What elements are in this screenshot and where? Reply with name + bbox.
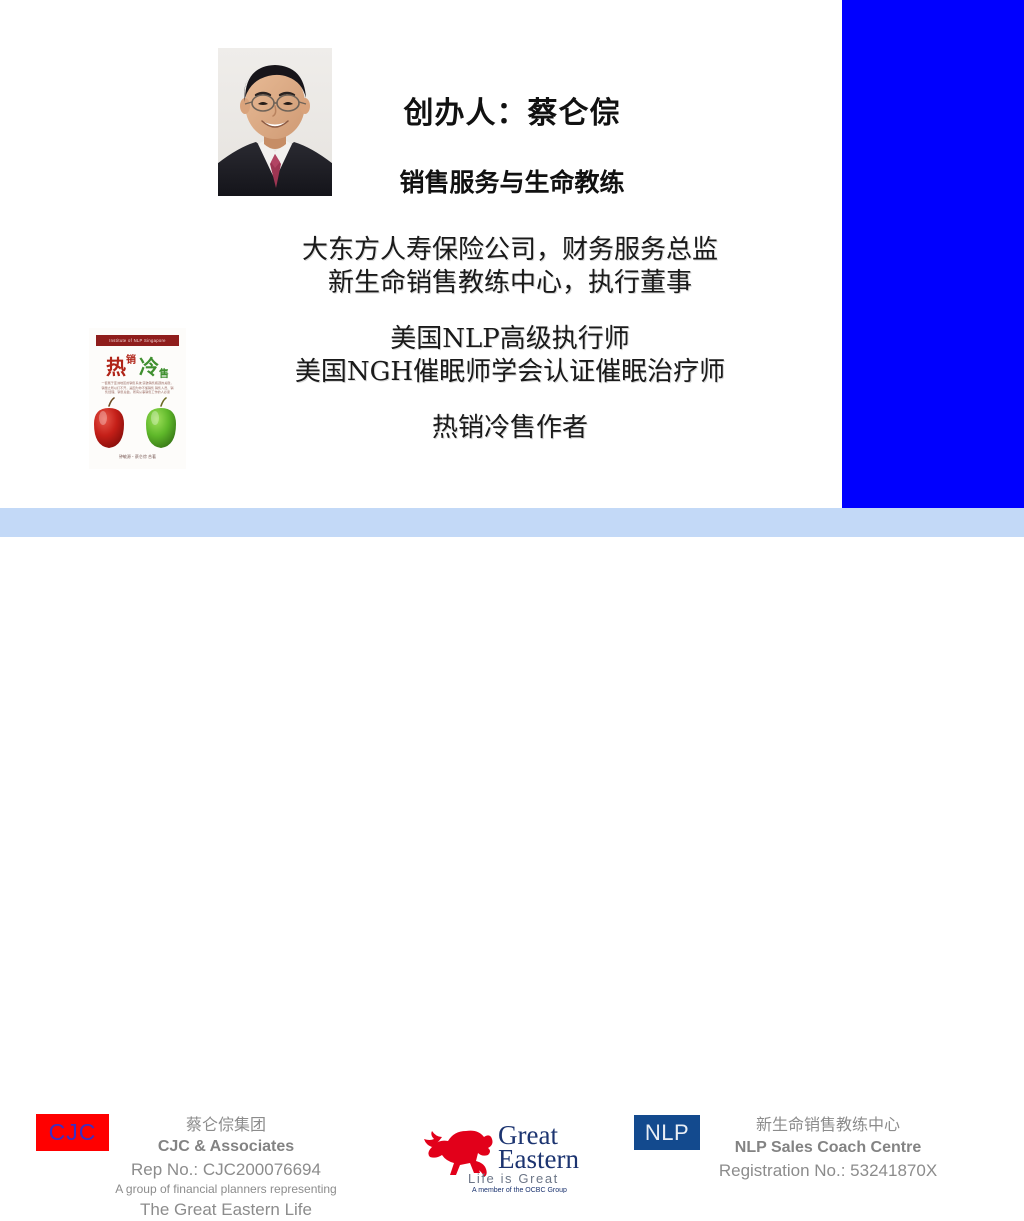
book-cover-image: Institute of NLP Singapore 热销冷售 一套属于亚洲地区… bbox=[89, 328, 186, 469]
book-apples-illustration bbox=[89, 396, 186, 456]
footer-partners-strip: CJC 蔡仑倧集团 CJC & Associates Rep No.: CJC2… bbox=[0, 545, 1024, 705]
credential-line-3: 美国NLP高级执行师 bbox=[190, 323, 830, 356]
book-authors: 钟敏源・蔡仑倧 合著 bbox=[89, 454, 186, 460]
svg-text:Eastern: Eastern bbox=[498, 1144, 579, 1174]
nlp-registration-no: Registration No.: 53241870X bbox=[678, 1159, 978, 1182]
nlp-name-cn: 新生命销售教练中心 bbox=[678, 1115, 978, 1137]
book-title-char-sell: 销 bbox=[126, 355, 136, 366]
book-title-char-cold: 冷 bbox=[139, 355, 159, 379]
founder-portrait-photo bbox=[218, 48, 332, 196]
svg-text:A member of the OCBC Group: A member of the OCBC Group bbox=[472, 1187, 567, 1193]
credential-line-5: 热销冷售作者 bbox=[190, 412, 830, 445]
nlp-name-en: NLP Sales Coach Centre bbox=[678, 1137, 978, 1159]
slide-title: 创办人：蔡仑倧 bbox=[352, 88, 672, 132]
book-banner-text: Institute of NLP Singapore bbox=[96, 335, 179, 346]
nlp-info-block: 新生命销售教练中心 NLP Sales Coach Centre Registr… bbox=[678, 1115, 978, 1182]
presentation-slide: 创办人：蔡仑倧 销售服务与生命教练 大东方人寿保险公司，财务服务总监 新生命销售… bbox=[0, 0, 1024, 768]
slide-subtitle: 销售服务与生命教练 bbox=[352, 163, 672, 199]
cjc-affiliation: The Great Eastern Life bbox=[88, 1198, 364, 1221]
blue-accent-panel bbox=[842, 0, 1024, 508]
cjc-descriptor: A group of financial planners representi… bbox=[88, 1181, 364, 1198]
credentials-block: 大东方人寿保险公司，财务服务总监 新生命销售教练中心，执行董事 美国NLP高级执… bbox=[190, 234, 830, 445]
book-blurb: 一套属于亚洲地区的销售系统 突破销售瓶颈的关键，销量之所以打不开，是因为你不懂销… bbox=[100, 381, 175, 396]
cjc-name-cn: 蔡仑倧集团 bbox=[88, 1115, 364, 1136]
cjc-rep-no: Rep No.: CJC200076694 bbox=[88, 1158, 364, 1181]
light-blue-divider-band bbox=[0, 508, 1024, 537]
cjc-name-en: CJC & Associates bbox=[88, 1136, 364, 1158]
credential-line-1: 大东方人寿保险公司，财务服务总监 bbox=[190, 234, 830, 267]
cjc-info-block: 蔡仑倧集团 CJC & Associates Rep No.: CJC20007… bbox=[88, 1115, 364, 1221]
svg-text:Life is Great: Life is Great bbox=[468, 1171, 559, 1186]
credential-spacer-2 bbox=[190, 389, 830, 412]
credential-line-4: 美国NGH催眠师学会认证催眠治疗师 bbox=[190, 356, 830, 389]
book-title: 热销冷售 bbox=[89, 351, 186, 380]
credential-spacer-1 bbox=[190, 300, 830, 323]
book-title-char-hot: 热 bbox=[106, 355, 126, 379]
great-eastern-logo: Great Eastern Life is Great A member of … bbox=[424, 1117, 596, 1193]
credential-line-2: 新生命销售教练中心，执行董事 bbox=[190, 267, 830, 300]
book-title-char-sale: 售 bbox=[159, 369, 169, 380]
